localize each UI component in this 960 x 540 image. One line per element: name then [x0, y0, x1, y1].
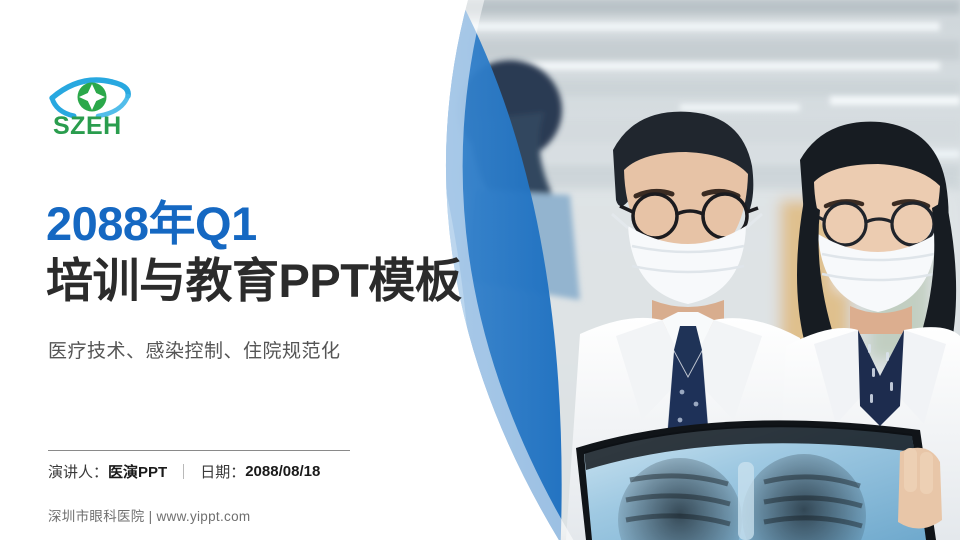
presenter-meta: 演讲人： 医演PPT 日期： 2088/08/18 — [48, 461, 320, 482]
meta-separator — [183, 464, 184, 479]
date-value: 2088/08/18 — [245, 463, 320, 480]
title-line-year: 2088年Q1 — [46, 196, 566, 252]
page-title: 2088年Q1 培训与教育PPT模板 — [46, 196, 566, 310]
title-line-main: 培训与教育PPT模板 — [46, 252, 566, 310]
divider-rule — [48, 450, 350, 451]
hospital-logo: SZEH — [48, 72, 158, 142]
speaker-label: 演讲人： — [48, 461, 108, 482]
speaker-value: 医演PPT — [108, 461, 167, 482]
date-label: 日期： — [200, 461, 245, 482]
szeh-logo-icon: SZEH — [48, 72, 158, 142]
footer-organization: 深圳市眼科医院 | www.yippt.com — [48, 505, 250, 525]
subtitle: 医疗技术、感染控制、住院规范化 — [48, 336, 341, 363]
title-panel: SZEH 2088年Q1 培训与教育PPT模板 医疗技术、感染控制、住院规范化 … — [0, 0, 420, 540]
presentation-slide: SZEH 2088年Q1 培训与教育PPT模板 医疗技术、感染控制、住院规范化 … — [0, 0, 960, 540]
logo-wordmark: SZEH — [53, 112, 122, 140]
